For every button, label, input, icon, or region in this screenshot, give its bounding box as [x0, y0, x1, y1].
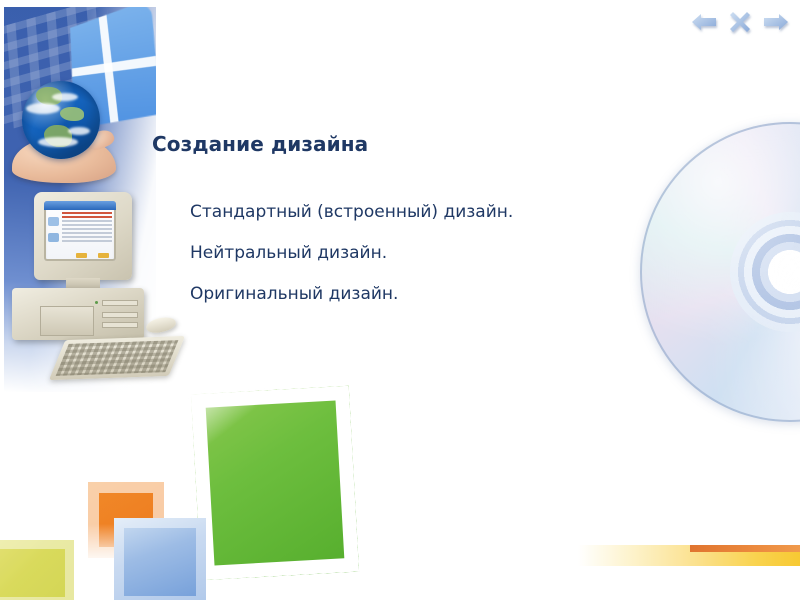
- cloud: [26, 103, 60, 114]
- close-button[interactable]: [726, 8, 754, 36]
- arrow-left-icon: [691, 12, 717, 32]
- yellow-square-decoration: [0, 540, 74, 600]
- floppy-drive: [102, 312, 138, 318]
- screen-icon: [48, 233, 59, 242]
- optical-drive: [102, 300, 138, 306]
- disc-rim: [640, 122, 800, 422]
- globe-icon: [22, 81, 100, 159]
- presentation-slide: Создание дизайна Стандартный (встроенный…: [0, 0, 800, 600]
- screen-titlebar: [44, 201, 116, 210]
- screen-text-line: [62, 232, 112, 234]
- screen-button: [76, 253, 87, 258]
- cloud: [68, 127, 90, 135]
- cloud: [38, 137, 78, 147]
- screen-text-line: [62, 220, 112, 222]
- monitor-screen: [44, 201, 116, 261]
- computer-tower: [12, 288, 144, 340]
- power-led: [95, 301, 98, 304]
- screen-text-line: [62, 228, 112, 230]
- mouse: [145, 315, 177, 335]
- keyboard-keys: [56, 340, 179, 376]
- keyboard: [49, 336, 185, 380]
- screen-button: [98, 253, 109, 258]
- blue-square-decoration: [114, 518, 206, 600]
- continent: [60, 107, 84, 121]
- close-icon: [730, 12, 750, 32]
- screen-icon: [48, 217, 59, 226]
- cd-disc-image: [640, 122, 800, 422]
- screen-text-line: [62, 212, 112, 214]
- green-frame-decoration: [191, 386, 359, 581]
- globe-in-hand-image: [12, 81, 116, 185]
- bullet-item: Оригинальный дизайн.: [190, 274, 660, 315]
- orange-bar-decoration: [690, 545, 800, 552]
- slide-title: Создание дизайна: [152, 132, 368, 156]
- crt-monitor: [34, 192, 132, 280]
- screen-text-line: [62, 236, 112, 238]
- drive-slot: [102, 322, 138, 328]
- previous-slide-button[interactable]: [690, 8, 718, 36]
- cloud: [52, 93, 78, 101]
- screen-text-line: [62, 216, 112, 218]
- bullet-item: Нейтральный дизайн.: [190, 233, 660, 274]
- bullet-item: Стандартный (встроенный) дизайн.: [190, 192, 660, 233]
- slide-bullet-list: Стандартный (встроенный) дизайн. Нейтрал…: [190, 192, 660, 315]
- tower-front-panel: [40, 306, 94, 336]
- screen-text-line: [62, 240, 112, 242]
- next-slide-button[interactable]: [762, 8, 790, 36]
- arrow-right-icon: [763, 12, 789, 32]
- desktop-computer-image: [12, 192, 182, 392]
- slide-navigation: [690, 8, 790, 36]
- screen-text-line: [62, 224, 112, 226]
